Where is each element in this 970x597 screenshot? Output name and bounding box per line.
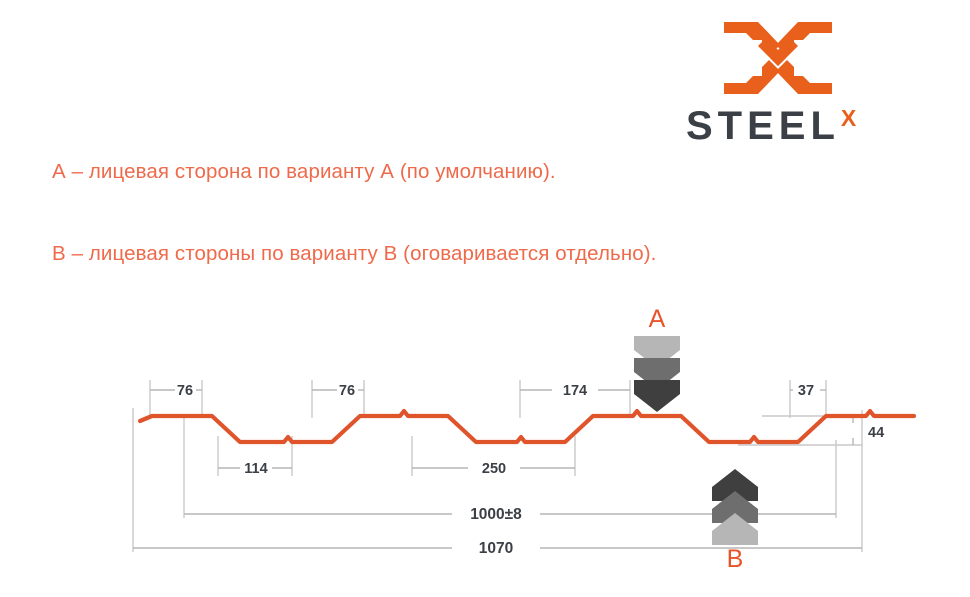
side-marker-b: B	[712, 469, 758, 573]
dimension-label-76-b: 76	[339, 383, 355, 399]
side-marker-a: A	[634, 305, 680, 412]
dimension-label-44: 44	[868, 425, 884, 441]
dimension-label-37: 37	[798, 383, 814, 399]
dimension-label-250: 250	[482, 461, 506, 477]
steelx-x-mark-icon	[722, 18, 834, 98]
logo-steel-text: STEEL	[686, 106, 840, 146]
note-variant-a: А – лицевая сторона по варианту А (по ум…	[52, 160, 556, 184]
side-marker-a-label: A	[649, 305, 666, 333]
side-marker-b-label: B	[727, 545, 744, 573]
dimension-label-114: 114	[244, 461, 267, 477]
dimension-label-1070: 1070	[479, 540, 513, 557]
note-variant-b: В – лицевая стороны по варианту В (огова…	[52, 242, 656, 266]
brand-logo: STEEL X	[686, 18, 918, 143]
dimension-label-76-a: 76	[177, 383, 193, 399]
logo-superscript-x: X	[841, 107, 856, 130]
dimension-label-174: 174	[563, 383, 587, 399]
profile-technical-drawing: 76 76 174 37 44 114 250 1000±8 1070 A B	[0, 290, 970, 590]
dimension-label-1000: 1000±8	[470, 506, 522, 523]
logo-wordmark: STEEL X	[686, 106, 918, 146]
